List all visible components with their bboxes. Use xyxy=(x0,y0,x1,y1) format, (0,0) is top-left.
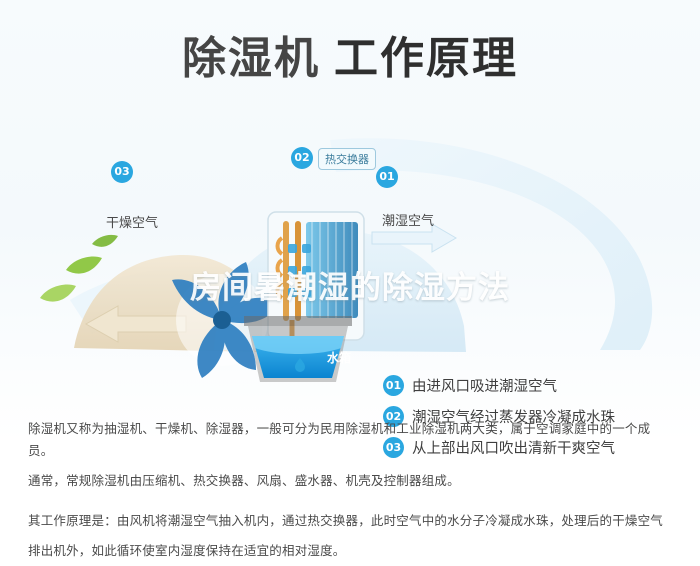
illus-label-moist-air: 潮湿空气 xyxy=(382,210,434,229)
title-part-1: 除湿机 xyxy=(182,33,320,84)
body-paragraph-4: 排出机外，如此循环使室内湿度保持在适宜的相对湿度。 xyxy=(28,540,674,562)
body-paragraph-3: 其工作原理是：由风机将潮湿空气抽入机内，通过热交换器，此时空气中的水分子冷凝成水… xyxy=(28,510,674,532)
page-title: 除湿机工作原理 xyxy=(0,30,700,88)
badge-02: 02 xyxy=(291,147,313,169)
legend-text-01: 由进风口吸进潮湿空气 xyxy=(412,375,557,396)
title-part-2: 工作原理 xyxy=(334,33,518,84)
body-copy: 除湿机又称为抽湿机、干燥机、除湿器，一般可分为民用除湿机和工业除湿机两大类，属于… xyxy=(28,418,674,566)
illustration: 03 干燥空气 02 热交换器 01 潮湿空气 水箱 01 由进风口吸进潮湿空气… xyxy=(0,120,700,410)
illus-label-dry-air: 干燥空气 xyxy=(106,212,158,231)
illus-label-water-tank: 水箱 xyxy=(327,349,351,366)
page-root: 除湿机工作原理 xyxy=(0,0,700,566)
legend-num-01: 01 xyxy=(383,375,404,396)
badge-01: 01 xyxy=(376,166,398,188)
illus-label-heat-exchanger: 热交换器 xyxy=(318,148,376,170)
paragraph-spacer xyxy=(28,500,674,510)
legend-item-01: 01 由进风口吸进潮湿空气 xyxy=(383,370,683,401)
badge-03: 03 xyxy=(111,161,133,183)
body-paragraph-1: 除湿机又称为抽湿机、干燥机、除湿器，一般可分为民用除湿机和工业除湿机两大类，属于… xyxy=(28,418,674,462)
body-paragraph-2: 通常，常规除湿机由压缩机、热交换器、风扇、盛水器、机壳及控制器组成。 xyxy=(28,470,674,492)
